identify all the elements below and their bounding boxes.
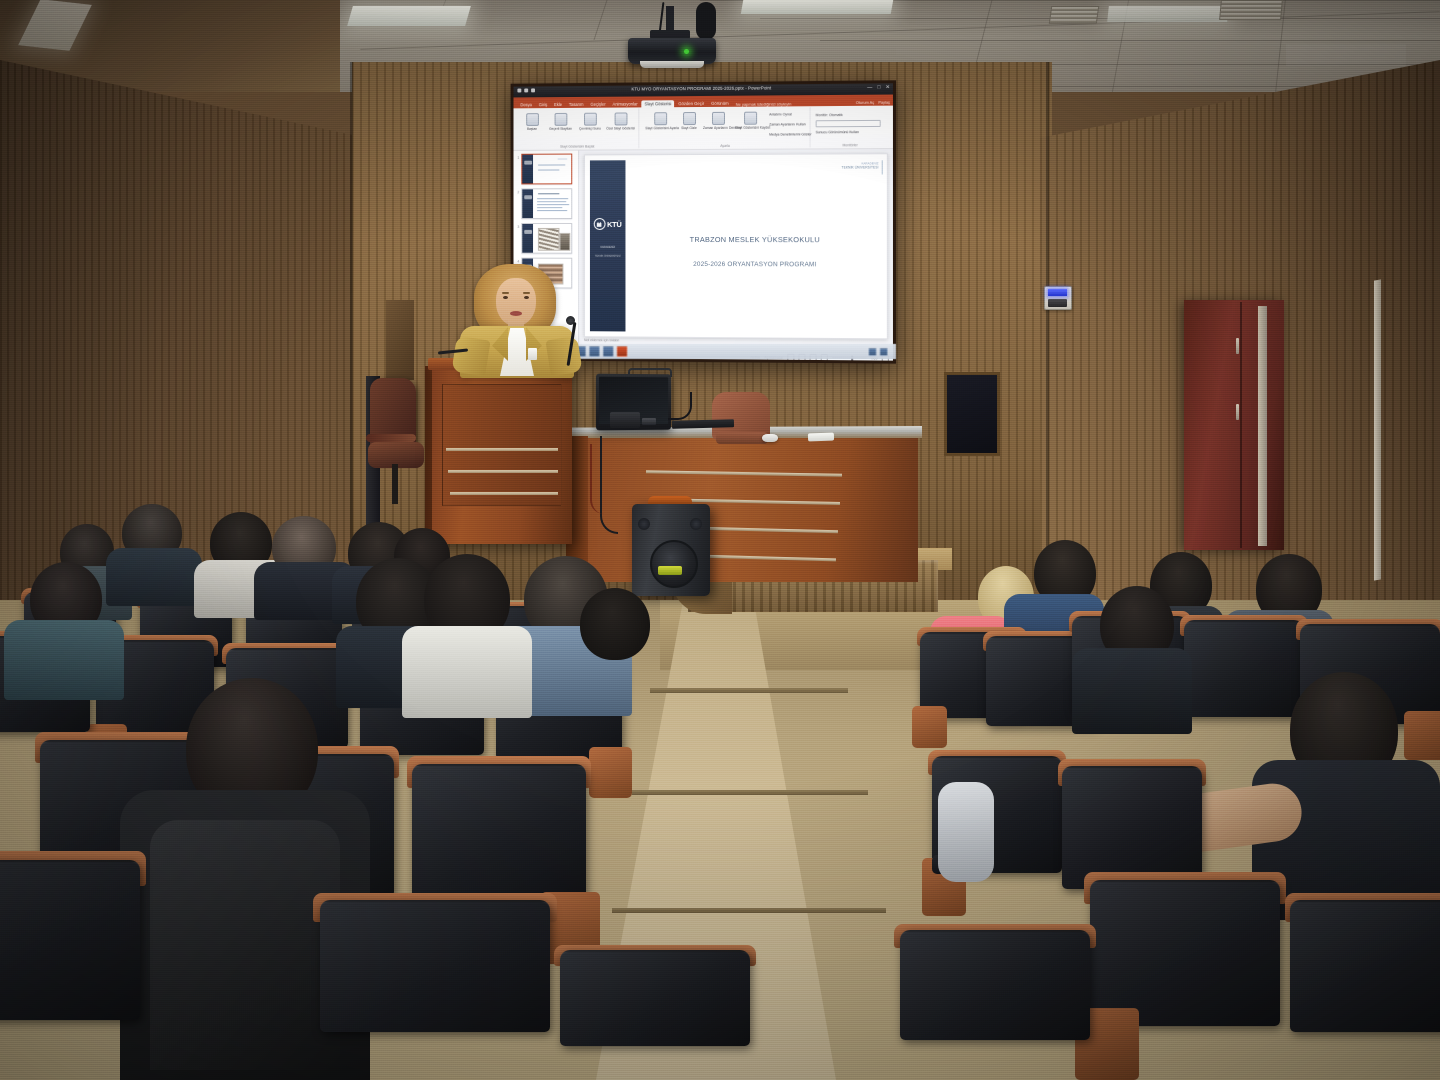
pa-speaker bbox=[632, 504, 710, 596]
wall-control-panel[interactable] bbox=[1044, 286, 1072, 310]
checkbox-anlatimi-oynat[interactable]: Anlatımı Oynat bbox=[769, 112, 792, 116]
presenter-mouth bbox=[510, 311, 522, 316]
thumbnail-sidebar bbox=[522, 189, 533, 218]
audience-head bbox=[580, 588, 650, 660]
chair-seat bbox=[716, 432, 768, 444]
ktu-logo-subtitle-2: TEKNİK ÜNİVERSİTESİ bbox=[595, 254, 621, 257]
ribbon-group-setup: Slayt Gösterisini Ayarla Slayt Gizle Zam… bbox=[641, 107, 810, 148]
slide-thumbnail-3[interactable]: 3 bbox=[521, 223, 572, 254]
chair-armrest bbox=[366, 434, 416, 442]
play-from-current-icon bbox=[554, 113, 567, 126]
tab-dosya[interactable]: Dosya bbox=[517, 101, 534, 109]
podium-trim bbox=[448, 470, 558, 473]
checkbox-medya-denetimleri[interactable]: Medya Denetimlerini Göster bbox=[769, 132, 811, 136]
seat[interactable] bbox=[1090, 880, 1280, 1080]
control-panel-buttons[interactable] bbox=[1048, 299, 1067, 307]
ceiling-light bbox=[347, 6, 471, 26]
network-icon[interactable] bbox=[869, 347, 877, 355]
podium-trim bbox=[450, 492, 558, 495]
ceiling-light bbox=[1107, 6, 1229, 22]
undo-icon[interactable] bbox=[524, 88, 528, 92]
keyboard[interactable] bbox=[672, 419, 734, 429]
ribbon-button-ozel-slayt-gosterisi[interactable]: Özel Slayt Gösterisi bbox=[606, 112, 636, 130]
speaker-brand-logo bbox=[658, 566, 682, 575]
speaker-woofer bbox=[650, 540, 698, 588]
desk-device-small bbox=[642, 418, 656, 425]
ribbon-button-kaydet[interactable]: Slayt Gösterisini Kaydet bbox=[735, 112, 765, 130]
ribbon-group-label: Monitörler bbox=[812, 143, 889, 147]
cabinet-handle[interactable] bbox=[1236, 338, 1239, 354]
close-button[interactable]: ✕ bbox=[886, 85, 890, 90]
account-area[interactable]: Oturum Aç Paylaş bbox=[856, 100, 890, 104]
tab-tasarim[interactable]: Tasarım bbox=[566, 100, 587, 108]
powerpoint-icon[interactable] bbox=[617, 346, 628, 357]
thumbnail-sidebar bbox=[522, 155, 533, 184]
ribbon-button-zaman-ayarlari[interactable]: Zaman Ayarlarını Deneme bbox=[703, 112, 733, 130]
seat[interactable] bbox=[1184, 620, 1304, 752]
presenter-arm-left bbox=[451, 336, 490, 377]
mouse[interactable] bbox=[762, 434, 778, 442]
seat[interactable] bbox=[560, 950, 750, 1080]
checkbox-sunucu-gorunumu[interactable]: Sunucu Görünümünü Kullan bbox=[816, 130, 859, 134]
ktu-logo-icon bbox=[524, 230, 532, 234]
sign-in-link[interactable]: Oturum Aç bbox=[856, 100, 874, 104]
podium-front-panel bbox=[442, 384, 562, 506]
ribbon-button-bastan[interactable]: Baştan bbox=[519, 113, 544, 130]
control-panel-display bbox=[1048, 289, 1067, 296]
ribbon-group-label: Ayarla bbox=[641, 143, 809, 148]
current-slide[interactable]: KTÜ KARADENİZ TEKNİK ÜNİVERSİTESİ KARADE… bbox=[584, 153, 888, 339]
maximize-button[interactable]: □ bbox=[877, 85, 880, 90]
ribbon-group-monitors: Monitör: Otomatik Sunucu Görünümünü Kull… bbox=[812, 107, 889, 148]
window-title: KTU MYO ORYANTASYON PROGRAMI 2025-2026.p… bbox=[631, 85, 771, 91]
slide-corner-logo: KARADENİZ TEKNİK ÜNİVERSİTESİ bbox=[842, 161, 879, 169]
custom-show-icon bbox=[614, 113, 627, 126]
tab-gorunum[interactable]: Görünüm bbox=[708, 99, 731, 107]
slide-thumbnail-2[interactable]: 2 bbox=[521, 188, 572, 219]
aisle-step bbox=[612, 908, 886, 913]
slide-editing-area[interactable]: KTÜ KARADENİZ TEKNİK ÜNİVERSİTESİ KARADE… bbox=[579, 149, 893, 351]
audience-leg bbox=[938, 782, 994, 882]
corner-text-2: TEKNİK ÜNİVERSİTESİ bbox=[842, 165, 879, 169]
tab-giris[interactable]: Giriş bbox=[536, 101, 550, 109]
ktu-logo: KTÜ bbox=[594, 218, 622, 230]
monitor-dropdown[interactable] bbox=[816, 120, 881, 127]
clock[interactable] bbox=[891, 349, 892, 353]
audience-body bbox=[402, 626, 532, 718]
quick-access-toolbar[interactable] bbox=[517, 88, 535, 92]
play-from-start-icon bbox=[526, 113, 539, 126]
hide-slide-icon bbox=[683, 112, 696, 125]
mail-icon[interactable] bbox=[589, 346, 600, 357]
slide-thumbnail-1[interactable]: 1 bbox=[521, 154, 572, 185]
speaker-tweeter bbox=[638, 518, 650, 530]
speaker-tweeter bbox=[690, 518, 702, 530]
cabinet-handle[interactable] bbox=[1236, 404, 1239, 420]
save-icon[interactable] bbox=[517, 89, 521, 93]
ribbon-group-label: Slayt Gösterisini Başlat bbox=[516, 144, 638, 149]
seat[interactable] bbox=[320, 900, 550, 1080]
slide-subheading: 2025-2026 ORYANTASYON PROGRAMI bbox=[640, 260, 870, 268]
cabinet-seam bbox=[1240, 302, 1242, 548]
projector-status-led bbox=[684, 49, 689, 54]
desk-paper bbox=[808, 433, 834, 442]
redo-icon[interactable] bbox=[531, 88, 535, 92]
ceiling-vent bbox=[1219, 0, 1283, 20]
presenter-arm-right bbox=[545, 336, 582, 377]
media-icon[interactable] bbox=[603, 346, 614, 357]
chair-post bbox=[392, 464, 398, 504]
tab-ekle[interactable]: Ekle bbox=[551, 101, 565, 109]
slide-heading: TRABZON MESLEK YÜKSEKOKULU bbox=[640, 235, 870, 244]
aisle-step bbox=[632, 790, 868, 795]
audience-jacket-highlight bbox=[150, 820, 340, 1070]
thumbnail-image bbox=[538, 228, 560, 251]
thumbnail-image bbox=[559, 233, 570, 251]
window-controls[interactable]: — □ ✕ bbox=[867, 85, 890, 90]
record-show-icon bbox=[744, 112, 757, 125]
projector-lens bbox=[640, 61, 704, 68]
tab-gecisler[interactable]: Geçişler bbox=[588, 100, 609, 108]
ceiling-light bbox=[741, 0, 893, 14]
lecture-hall-photo: KTU MYO ORYANTASYON PROGRAMI 2025-2026.p… bbox=[0, 0, 1440, 1080]
audience-body bbox=[1072, 648, 1192, 734]
ktu-logo-mark-icon bbox=[594, 218, 606, 230]
ktu-logo-icon bbox=[524, 161, 532, 165]
present-online-icon bbox=[584, 113, 597, 126]
desk-cable bbox=[590, 444, 604, 514]
volume-icon[interactable] bbox=[880, 347, 888, 355]
wooden-cabinet[interactable] bbox=[1184, 300, 1284, 550]
podium-trim bbox=[446, 448, 558, 451]
ceiling-vent bbox=[1049, 6, 1100, 24]
projector-cable bbox=[696, 2, 716, 40]
share-button[interactable]: Paylaş bbox=[878, 100, 890, 104]
ribbon-button-slayt-gosterisini-ayarla[interactable]: Slayt Gösterisini Ayarla bbox=[645, 112, 675, 130]
wall-alcove bbox=[944, 372, 1000, 456]
audience-body bbox=[106, 548, 202, 606]
minimize-button[interactable]: — bbox=[867, 86, 872, 91]
cabinet-edge bbox=[1258, 306, 1267, 546]
office-chair[interactable] bbox=[366, 378, 428, 526]
slide-sidebar: KTÜ KARADENİZ TEKNİK ÜNİVERSİTESİ bbox=[590, 160, 626, 331]
microphone-capsule bbox=[566, 316, 575, 325]
checkbox-zaman-ayarlarini-kullan[interactable]: Zaman Ayarlarını Kullan bbox=[769, 122, 805, 126]
system-tray[interactable] bbox=[869, 347, 892, 355]
ribbon-button-slayt-gizle[interactable]: Slayt Gizle bbox=[677, 112, 701, 130]
seat[interactable] bbox=[900, 930, 1090, 1080]
setup-show-icon bbox=[654, 112, 667, 125]
presenter-face bbox=[496, 278, 536, 326]
wall-trim-strip bbox=[1374, 279, 1381, 580]
ribbon[interactable]: Baştan Geçerli Slayttan Çevrimiçi Sunu Ö… bbox=[514, 106, 893, 151]
seat[interactable] bbox=[0, 860, 140, 1080]
presenter bbox=[452, 264, 582, 374]
ktu-logo-icon bbox=[524, 195, 532, 199]
ktu-logo-subtitle-1: KARADENİZ bbox=[600, 246, 615, 249]
monitor-select[interactable]: Monitör: Otomatik bbox=[816, 113, 843, 117]
aisle-step bbox=[650, 688, 848, 693]
audience-body bbox=[4, 620, 124, 700]
rehearse-timings-icon bbox=[711, 112, 724, 125]
desk-device bbox=[610, 412, 640, 428]
ribbon-button-gecerli-slayttan[interactable]: Geçerli Slayttan bbox=[547, 113, 574, 131]
ktu-logo-text: KTÜ bbox=[607, 220, 622, 229]
wall-seam bbox=[1046, 62, 1049, 622]
ribbon-group-start-show: Baştan Geçerli Slayttan Çevrimiçi Sunu Ö… bbox=[516, 108, 639, 148]
ribbon-button-cevrimici-sunu[interactable]: Çevrimiçi Sunu bbox=[576, 113, 604, 131]
seat[interactable] bbox=[1290, 900, 1440, 1080]
wall-board-left bbox=[386, 300, 414, 380]
presenter-name-badge bbox=[528, 348, 537, 360]
thumbnail-sidebar bbox=[522, 224, 533, 253]
